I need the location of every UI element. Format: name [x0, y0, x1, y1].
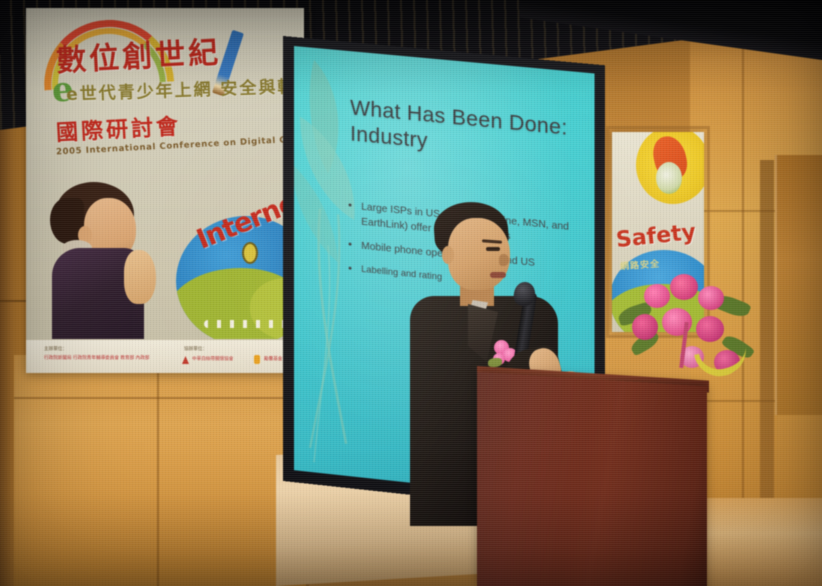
conference-photo-scene: 數位創世紀 e e世代青少年上網 安全與輔導 國際研討會 2005 Intern… [0, 0, 822, 586]
stage-floor [700, 498, 822, 586]
speaker-mouth [490, 272, 506, 278]
poster-footer-left-label: 主辦單位： [44, 347, 67, 354]
speaker-nose [499, 254, 509, 266]
wall-seam-right-3 [742, 0, 744, 500]
flower-bloom [632, 314, 658, 340]
child-photo [48, 180, 166, 355]
flower-bloom [670, 274, 698, 300]
podium [477, 372, 707, 586]
wall-seam-horizontal [14, 397, 306, 399]
poster-footer-right-text: 中華白絲帶關懷協會 [192, 357, 233, 364]
corsage-leaf [488, 358, 502, 367]
flower-arrangement [618, 262, 766, 394]
child-hand [124, 250, 156, 304]
flower-bloom [644, 284, 670, 308]
flower-bloom [648, 344, 674, 368]
wall-recess-right [775, 155, 822, 415]
wall-panel-lower-left [14, 355, 306, 586]
wall-seam-vertical [157, 355, 159, 586]
globe-eye [242, 242, 258, 264]
speaker-ear [442, 246, 454, 264]
sponsor-mark-2-icon [254, 355, 260, 364]
poster-footer-right-label: 協辦單位： [184, 347, 207, 354]
sponsor-mark-icon [182, 356, 189, 364]
flower-bloom [698, 286, 724, 310]
poster-footer-left-text: 行政院新聞局 行政院青年輔導委員會 教育部 內政部 [44, 356, 149, 363]
flower-bloom [696, 316, 724, 342]
speaker-eye [486, 247, 500, 251]
conference-poster: 數位創世紀 e e世代青少年上網 安全與輔導 國際研討會 2005 Intern… [26, 8, 304, 373]
podium-highlight [477, 372, 707, 586]
poster-footer: 主辦單位： 行政院新聞局 行政院青年輔導委員會 教育部 內政部 協辦單位： 中華… [26, 339, 304, 373]
